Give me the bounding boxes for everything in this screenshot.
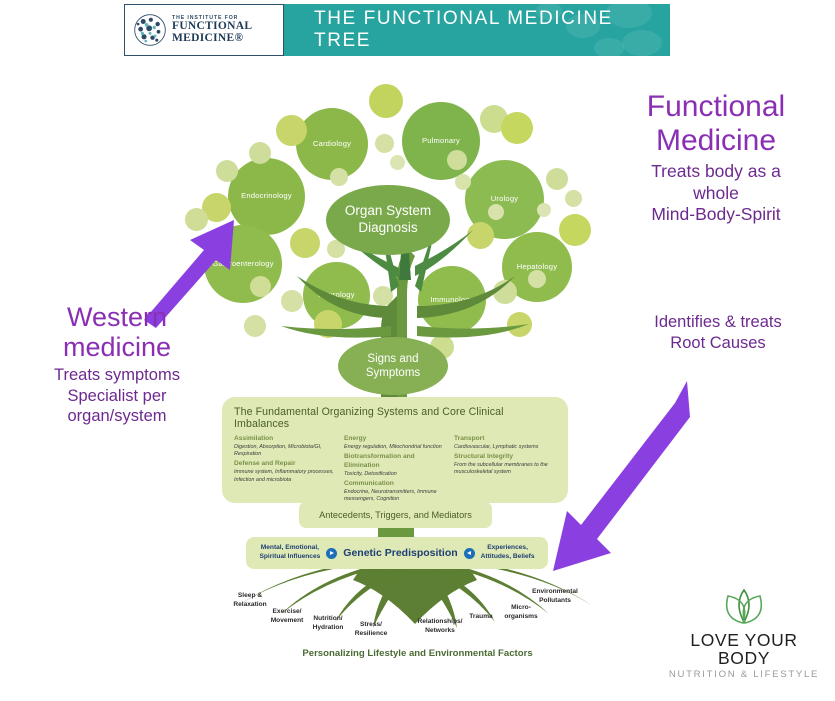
organ-system-diagnosis-node[interactable]: Organ SystemDiagnosis (326, 185, 450, 255)
core-column-3: Transport Cardiovascular, Lymphatic syst… (454, 435, 556, 506)
root-label-pollutants: EnvironmentalPollutants (519, 588, 591, 605)
core-heading: Energy (344, 435, 446, 444)
title-banner: THE FUNCTIONAL MEDICINE TREE (284, 4, 670, 56)
predisposition-center-label: Genetic Predisposition (343, 547, 457, 559)
brand-name: LOVE YOUR BODY (665, 632, 823, 667)
western-medicine-subtitle: Treats symptomsSpecialist perorgan/syste… (8, 365, 226, 426)
signs-and-symptoms-label: Signs andSymptoms (366, 352, 420, 381)
core-detail: Energy regulation, Mitochondrial functio… (344, 444, 446, 451)
western-medicine-annotation: Westernmedicine Treats symptomsSpecialis… (8, 302, 226, 427)
brand-tagline: NUTRITION & LIFESTYLE (665, 669, 823, 680)
root-label-sleep: Sleep &Relaxation (221, 592, 279, 609)
core-heading: Transport (454, 435, 556, 444)
core-detail: Digestion, Absorption, Microbiota/GI, Re… (234, 444, 336, 459)
organ-system-diagnosis-label: Organ SystemDiagnosis (345, 203, 431, 237)
predisposition-right-label: Experiences,Attitudes, Beliefs (481, 544, 535, 561)
core-column-2: Energy Energy regulation, Mitochondrial … (344, 435, 446, 506)
ifm-globe-icon (133, 13, 167, 47)
genetic-predisposition-bar[interactable]: Mental, Emotional,Spiritual Influences G… (246, 537, 548, 569)
functional-medicine-title: FunctionalMedicine (598, 90, 834, 157)
core-heading: Communication (344, 480, 446, 489)
leaf-logo-icon (698, 588, 790, 630)
core-detail: Toxicity, Detoxification (344, 471, 446, 478)
predisposition-left-label: Mental, Emotional,Spiritual Influences (259, 544, 320, 561)
core-clinical-imbalances-box: The Fundamental Organizing Systems and C… (222, 397, 568, 503)
ifm-logo: THE INSTITUTE FOR FUNCTIONAL MEDICINE® (124, 4, 284, 56)
love-your-body-logo: LOVE YOUR BODY NUTRITION & LIFESTYLE (665, 588, 823, 680)
functional-medicine-annotation: FunctionalMedicine Treats body as awhole… (598, 90, 834, 225)
root-causes-annotation: Identifies & treatsRoot Causes (604, 312, 832, 353)
core-heading: Assimilation (234, 435, 336, 444)
header-banner: THE INSTITUTE FOR FUNCTIONAL MEDICINE® T… (124, 4, 670, 56)
root-label-microorganisms: Micro-organisms (494, 604, 548, 621)
western-medicine-title: Westernmedicine (8, 302, 226, 362)
core-heading: Structural Integrity (454, 453, 556, 462)
ifm-logo-line2: MEDICINE® (172, 33, 252, 45)
core-column-1: Assimilation Digestion, Absorption, Micr… (234, 435, 336, 506)
atm-label: Antecedents, Triggers, and Mediators (319, 510, 472, 520)
core-detail: Cardiovascular, Lymphatic systems (454, 444, 556, 451)
root-label-stress: Stress/Resilience (344, 621, 398, 638)
play-left-icon (464, 548, 475, 559)
core-heading: Defense and Repair (234, 460, 336, 469)
banner-title: THE FUNCTIONAL MEDICINE TREE (284, 8, 670, 52)
core-box-title: The Fundamental Organizing Systems and C… (234, 406, 556, 430)
antecedents-triggers-mediators-box[interactable]: Antecedents, Triggers, and Mediators (299, 502, 492, 528)
core-heading: Biotransformation and Elimination (344, 453, 446, 471)
signs-and-symptoms-node[interactable]: Signs andSymptoms (338, 337, 448, 395)
core-detail: From the subcellular membranes to the mu… (454, 462, 556, 477)
functional-medicine-subtitle: Treats body as awholeMind-Body-Spirit (598, 161, 834, 225)
arrow-down-left-icon (545, 375, 690, 575)
core-detail: Immune system, Inflammatory processes, I… (234, 469, 336, 484)
ifm-logo-line1: FUNCTIONAL (172, 21, 252, 33)
play-right-icon (326, 548, 337, 559)
